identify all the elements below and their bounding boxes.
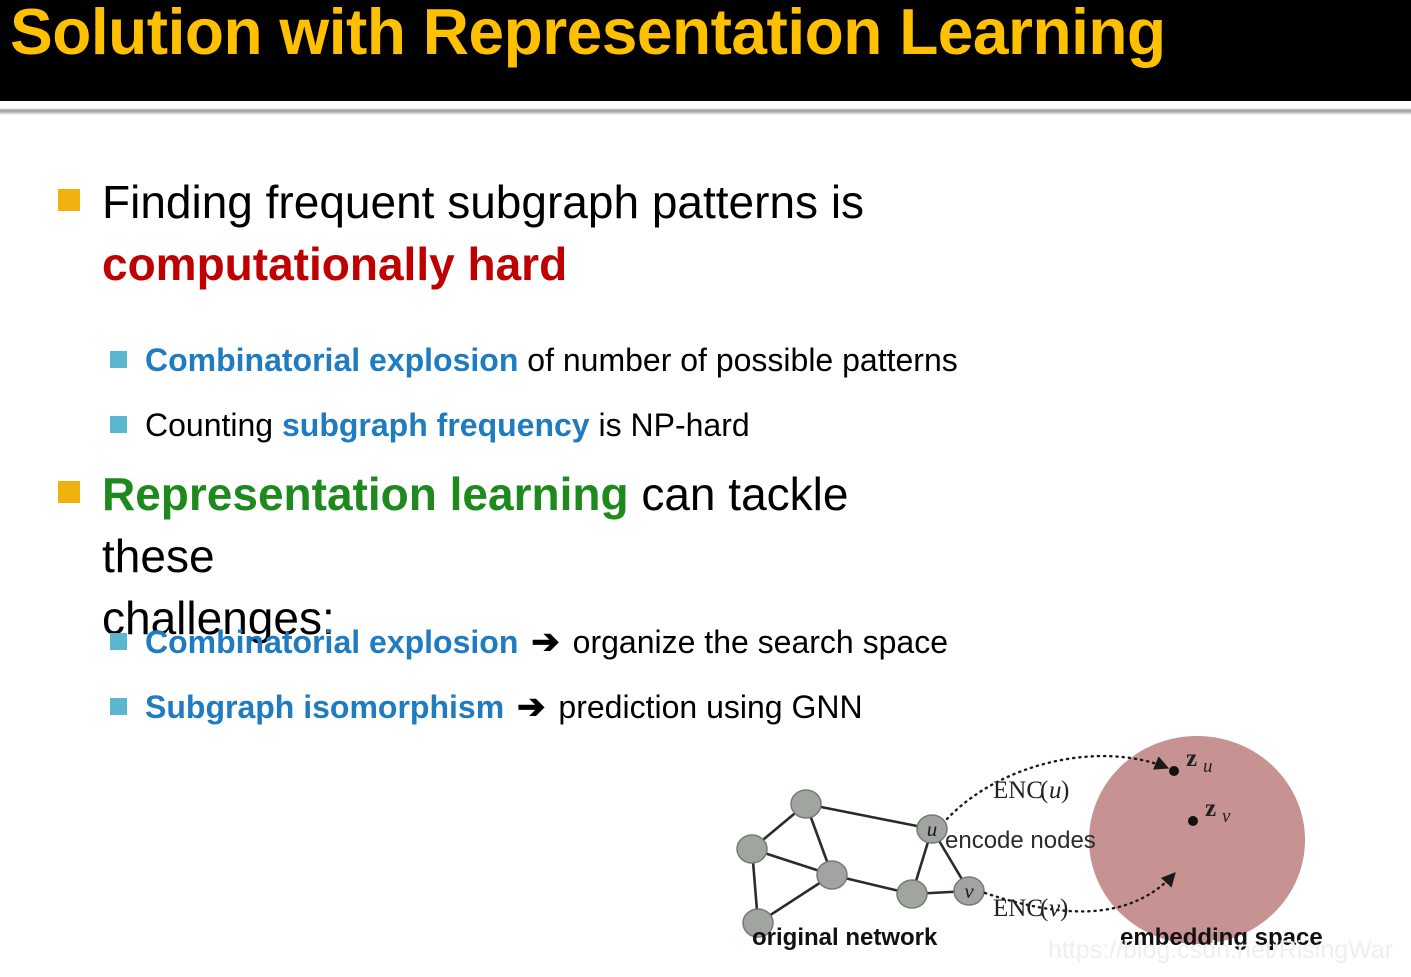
- sub-bullet-combinatorial-explosion-organize: Combinatorial explosion ➔ organize the s…: [110, 620, 1260, 664]
- watermark-text: https://blog.csdn.net/RisingWar: [1048, 936, 1393, 965]
- bullet-marker-square-blue: [110, 633, 127, 650]
- enc-v-label: ENC ( v ): [993, 895, 1068, 922]
- sub-bullet-text: Counting subgraph frequency is NP-hard: [145, 403, 750, 447]
- sub-bullet-highlight: Subgraph isomorphism: [145, 689, 504, 725]
- enc-u-variable: u: [1049, 777, 1062, 804]
- bullet-text-highlight-computationally-hard: computationally hard: [102, 238, 567, 290]
- graph-node: [737, 835, 767, 863]
- bullet-text-line1: Finding frequent subgraph patterns is: [102, 176, 864, 228]
- enc-v-paren-close: ): [1060, 895, 1068, 922]
- sub-bullet-highlight: subgraph frequency: [282, 407, 590, 443]
- enc-u-caps: ENC: [993, 777, 1043, 804]
- original-network-caption: original network: [752, 924, 938, 951]
- bullet-text-highlight-representation-learning: Representation learning: [102, 468, 629, 520]
- enc-u-label: ENC ( u ): [993, 777, 1069, 804]
- sub-bullet-lead: Counting: [145, 407, 282, 443]
- bullet-marker-square-blue: [110, 351, 127, 368]
- enc-u-paren-close: ): [1061, 777, 1069, 804]
- sub-bullet-text: Combinatorial explosion of number of pos…: [145, 338, 958, 382]
- header-divider: [0, 108, 1411, 115]
- sub-bullet-highlight: Combinatorial explosion: [145, 624, 518, 660]
- sub-bullet-counting-subgraph-frequency: Counting subgraph frequency is NP-hard: [110, 403, 1260, 447]
- bullet-marker-square-gold: [58, 189, 80, 211]
- graph-node-u-label: u: [927, 817, 938, 841]
- embedding-point-zv: [1188, 816, 1198, 826]
- sub-bullet-rest: organize the search space: [573, 624, 948, 660]
- right-arrow-icon: ➔: [513, 688, 550, 726]
- sub-bullet-rest: is NP-hard: [590, 407, 750, 443]
- bullet-marker-square-blue: [110, 698, 127, 715]
- bullet-marker-square-blue: [110, 416, 127, 433]
- graph-node: [791, 790, 821, 818]
- enc-u-paren-open: (: [1040, 777, 1048, 804]
- zv-subscript: v: [1222, 806, 1231, 827]
- page-title: Solution with Representation Learning: [10, 0, 1389, 72]
- bullet-text: Finding frequent subgraph patterns is co…: [102, 171, 864, 295]
- sub-bullet-text: Combinatorial explosion ➔ organize the s…: [145, 620, 948, 664]
- encode-nodes-label: encode nodes: [945, 827, 1096, 854]
- right-arrow-icon: ➔: [527, 623, 564, 661]
- zu-symbol: z: [1186, 745, 1197, 772]
- bullet-item-finding-frequent-subgraph: Finding frequent subgraph patterns is co…: [58, 171, 958, 295]
- bullet-marker-square-gold: [58, 481, 80, 503]
- graph-nodes: [737, 790, 984, 937]
- sub-bullet-highlight: Combinatorial explosion: [145, 342, 518, 378]
- sub-bullet-rest: of number of possible patterns: [518, 342, 957, 378]
- graph-node: [897, 880, 927, 908]
- enc-v-caps: ENC: [993, 895, 1043, 922]
- zu-subscript: u: [1203, 756, 1213, 777]
- enc-v-paren-open: (: [1040, 895, 1048, 922]
- graph-node-v-label: v: [964, 879, 974, 903]
- graph-node: [817, 861, 847, 889]
- embedding-point-zu: [1169, 766, 1179, 776]
- sub-bullet-combinatorial-explosion-count: Combinatorial explosion of number of pos…: [110, 338, 1260, 382]
- zv-symbol: z: [1205, 795, 1216, 822]
- slide-header-bar: Solution with Representation Learning: [0, 0, 1411, 101]
